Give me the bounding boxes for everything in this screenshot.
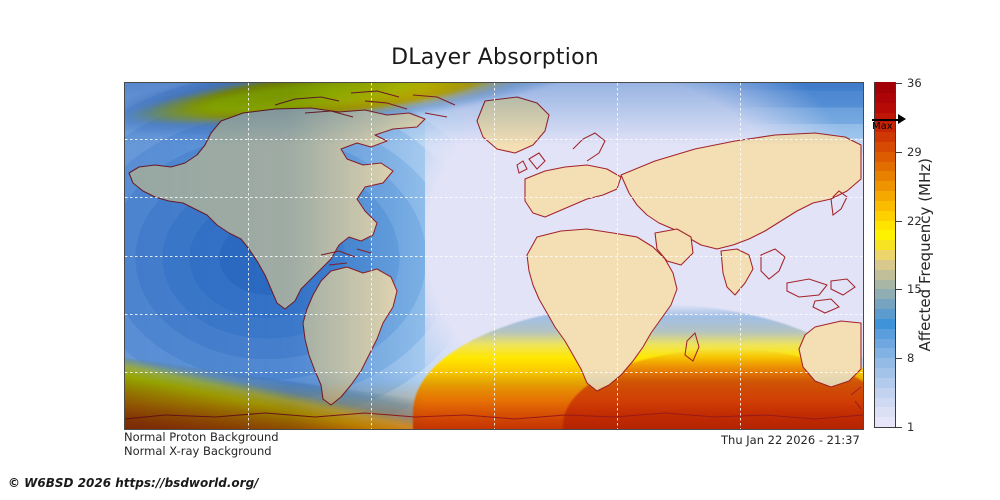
colorbar-segment (875, 328, 895, 338)
colorbar-segment (875, 220, 895, 230)
colorbar-segment (875, 102, 895, 112)
landmass-india (721, 249, 753, 295)
colorbar-segment (875, 407, 895, 417)
copyright-footer: © W6BSD 2026 https://bsdworld.org/ (8, 476, 259, 490)
colorbar-segment (875, 367, 895, 377)
landmass-south-america (303, 267, 397, 405)
xray-background-status: Normal X-ray Background (124, 444, 272, 458)
colorbar-segment (875, 348, 895, 358)
world-map-panel[interactable] (124, 82, 864, 430)
colorbar-segment (875, 210, 895, 220)
colorbar-segment (875, 387, 895, 397)
proton-background-status: Normal Proton Background (124, 430, 279, 444)
colorbar-segment (875, 82, 895, 92)
coastline-new-zealand (851, 387, 861, 409)
landmass-asia (621, 133, 861, 249)
colorbar-segment (875, 318, 895, 328)
colorbar-segment (875, 181, 895, 191)
colorbar-tick (896, 289, 902, 290)
colorbar-tick (896, 221, 902, 222)
colorbar-segment (875, 191, 895, 201)
colorbar-max-marker: Max (870, 112, 916, 136)
coastline-southeast-asia (761, 249, 855, 313)
landmass-greenland (477, 97, 549, 153)
landmass-europe (525, 165, 621, 217)
colorbar-axis-label: Affected Frequency (MHz) (914, 82, 936, 428)
colorbar-segment (875, 240, 895, 250)
timestamp-label: Thu Jan 22 2026 - 21:37 (721, 433, 860, 447)
colorbar-segment (875, 151, 895, 161)
colorbar-segment (875, 279, 895, 289)
colorbar-axis-label-text: Affected Frequency (MHz) (916, 158, 934, 352)
colorbar-segment (875, 289, 895, 299)
colorbar-segment (875, 141, 895, 151)
colorbar-segment (875, 338, 895, 348)
coastline-antarctica (125, 413, 863, 419)
colorbar-segment (875, 377, 895, 387)
colorbar-segment (875, 308, 895, 318)
colorbar-segment (875, 358, 895, 368)
colorbar-segment (875, 269, 895, 279)
colorbar-segment (875, 397, 895, 407)
colorbar-segment (875, 161, 895, 171)
colorbar-segment (875, 259, 895, 269)
colorbar-segment (875, 250, 895, 260)
coastline-overlay (125, 83, 863, 429)
coastline-madagascar (685, 333, 699, 361)
colorbar-tick (896, 427, 902, 428)
colorbar-segment (875, 299, 895, 309)
dlayer-absorption-figure: DLayer Absorption (0, 0, 1000, 500)
colorbar-tick (896, 83, 902, 84)
landmass-africa (527, 229, 677, 391)
max-arrow-head-icon (898, 114, 906, 124)
colorbar-segment (875, 417, 895, 427)
max-marker-label: Max (872, 121, 893, 132)
page-title: DLayer Absorption (0, 45, 990, 70)
colorbar-segment (875, 92, 895, 102)
colorbar-segment (875, 200, 895, 210)
map-canvas (125, 83, 863, 429)
colorbar-segment (875, 171, 895, 181)
colorbar-tick (896, 152, 902, 153)
landmass-australia (799, 321, 861, 387)
colorbar-tick (896, 358, 902, 359)
colorbar-segment (875, 230, 895, 240)
